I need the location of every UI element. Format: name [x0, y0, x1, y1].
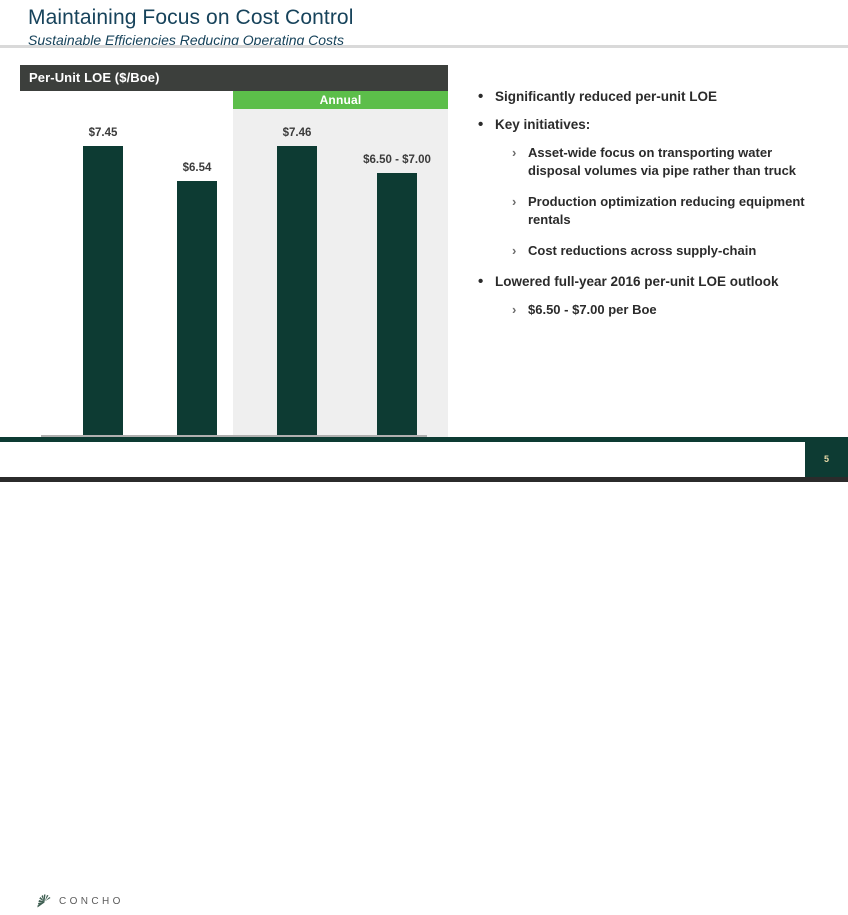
bar-1H16	[177, 181, 217, 435]
bullet-item: •Key initiatives:	[478, 116, 828, 133]
bullet-text: Key initiatives:	[495, 116, 590, 133]
bullet-dot-icon: •	[478, 273, 495, 290]
footer: CONCHO	[0, 442, 848, 479]
bullet-text: Production optimization reducing equipme…	[528, 193, 828, 229]
bullet-item: ›Cost reductions across supply-chain	[478, 242, 828, 260]
title-divider	[0, 45, 848, 48]
bar-value-FY16e: $6.50 - $7.00	[342, 154, 452, 166]
bar-value-1H16: $6.54	[142, 162, 252, 174]
bullet-text: $6.50 - $7.00 per Boe	[528, 301, 657, 319]
bullet-item: •Lowered full-year 2016 per-unit LOE out…	[478, 273, 828, 290]
bullet-chevron-icon: ›	[512, 144, 528, 162]
bullet-item: •Significantly reduced per-unit LOE	[478, 88, 828, 105]
footer-bottom-rule	[0, 477, 848, 482]
bullet-text: Cost reductions across supply-chain	[528, 242, 756, 260]
bullet-text: Asset-wide focus on transporting water d…	[528, 144, 828, 180]
bullet-text: Significantly reduced per-unit LOE	[495, 88, 717, 105]
title-block: Maintaining Focus on Cost Control Sustai…	[28, 5, 728, 49]
bar-FY15	[277, 146, 317, 435]
bullet-chevron-icon: ›	[512, 301, 528, 319]
page-number-block: 5	[805, 442, 848, 477]
bullet-dot-icon: •	[478, 116, 495, 133]
bullet-list: •Significantly reduced per-unit LOE•Key …	[478, 88, 828, 332]
logo-wordmark: CONCHO	[59, 896, 124, 907]
bullet-dot-icon: •	[478, 88, 495, 105]
bar-value-FY15: $7.46	[242, 127, 352, 139]
bar-value-2H15: $7.45	[48, 127, 158, 139]
chart-plot-area: $7.452H15$6.541H16$7.46FY15$6.50 - $7.00…	[20, 91, 448, 437]
bar-2H15	[83, 146, 123, 435]
bullet-item: ›Asset-wide focus on transporting water …	[478, 144, 828, 180]
bullet-item: ›$6.50 - $7.00 per Boe	[478, 301, 828, 319]
concho-logo: CONCHO	[36, 893, 124, 910]
chart-panel: Per-Unit LOE ($/Boe) Annual $7.452H15$6.…	[20, 65, 448, 437]
bullet-chevron-icon: ›	[512, 242, 528, 260]
pinwheel-icon	[36, 893, 53, 910]
page-number: 5	[805, 442, 848, 477]
bullet-text: Lowered full-year 2016 per-unit LOE outl…	[495, 273, 779, 290]
bullet-item: ›Production optimization reducing equipm…	[478, 193, 828, 229]
slide: Maintaining Focus on Cost Control Sustai…	[0, 0, 848, 482]
page-title: Maintaining Focus on Cost Control	[28, 5, 728, 30]
bar-FY16e	[377, 173, 417, 435]
chart-header-bar: Per-Unit LOE ($/Boe)	[20, 65, 448, 91]
chart-title: Per-Unit LOE ($/Boe)	[20, 65, 448, 91]
bullet-chevron-icon: ›	[512, 193, 528, 211]
